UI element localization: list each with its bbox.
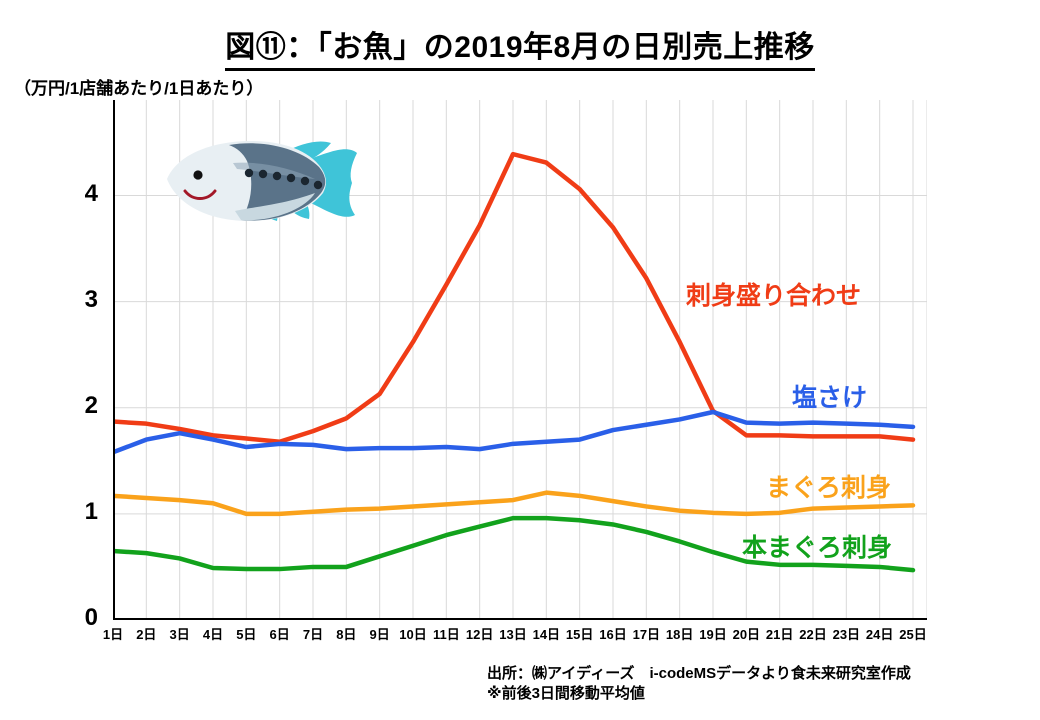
series-label-shiozake: 塩さけ bbox=[792, 378, 867, 414]
x-axis-tick-label: 25日 bbox=[893, 624, 933, 643]
source-note-line-1: 出所：㈱アイディーズ i-codeMSデータより食未来研究室作成 bbox=[487, 664, 911, 684]
y-axis-tick-label: 0 bbox=[58, 604, 98, 632]
series-label-sashimi-moriawase: 刺身盛り合わせ bbox=[686, 276, 861, 312]
page-title-text: 図⑪：「お魚」の2019年8月の日別売上推移 bbox=[225, 31, 814, 71]
y-axis-tick-label: 1 bbox=[58, 498, 98, 526]
page-title: 図⑪：「お魚」の2019年8月の日別売上推移 bbox=[0, 22, 1040, 66]
series-label-maguro-sashimi: まぐろ刺身 bbox=[766, 468, 891, 504]
y-axis-tick-label: 4 bbox=[58, 180, 98, 208]
x-axis-tick-labels: 1日2日3日4日5日6日7日8日9日10日11日12日13日14日15日16日1… bbox=[113, 624, 927, 648]
y-axis-tick-label: 3 bbox=[58, 286, 98, 314]
slide-canvas: 図⑪：「お魚」の2019年8月の日別売上推移 （万円/1店舗あたり/1日あたり）… bbox=[0, 0, 1040, 720]
y-axis-unit-caption: （万円/1店舗あたり/1日あたり） bbox=[14, 74, 263, 99]
y-axis-tick-label: 2 bbox=[58, 392, 98, 420]
fish-illustration bbox=[155, 133, 360, 233]
source-note-line-2: ※前後3日間移動平均値 bbox=[487, 684, 911, 704]
series-label-hon-maguro-sashimi: 本まぐろ刺身 bbox=[742, 528, 892, 564]
source-note: 出所：㈱アイディーズ i-codeMSデータより食未来研究室作成 ※前後3日間移… bbox=[487, 664, 911, 705]
